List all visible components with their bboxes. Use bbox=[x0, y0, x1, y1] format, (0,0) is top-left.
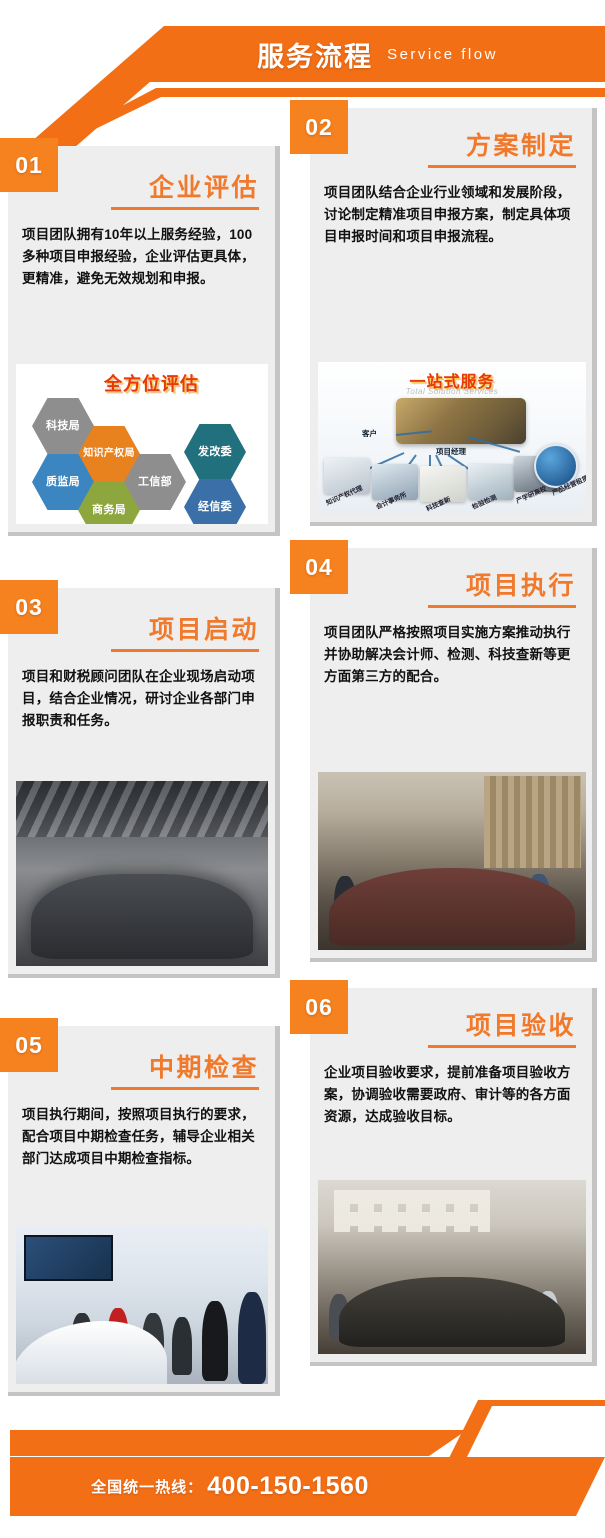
step-number-badge: 02 bbox=[290, 100, 348, 154]
photo-acceptance-meeting bbox=[318, 1180, 586, 1354]
footer-stripe bbox=[10, 1430, 605, 1456]
step-body-text: 项目团队结合企业行业领域和发展阶段，讨论制定精准项目申报方案，制定具体项目申报时… bbox=[310, 168, 592, 258]
header-title-group: 服务流程 Service flow bbox=[150, 26, 605, 82]
step-body-text: 项目团队拥有10年以上服务经验，100多种项目申报经验，企业评估更具体，更精准，… bbox=[8, 210, 275, 300]
hex-node-label: 工信部 bbox=[138, 476, 172, 488]
step-body-text: 项目执行期间，按照项目执行的要求，配合项目中期检查任务，辅导企业相关部门达成项目… bbox=[8, 1090, 275, 1180]
step-number-badge: 05 bbox=[0, 1018, 58, 1072]
photo-people-group bbox=[16, 1226, 268, 1384]
hex-node-label: 科技局 bbox=[46, 420, 80, 432]
photo-site-inspection-tour bbox=[16, 1226, 268, 1384]
step-card-02[interactable]: 02 方案制定 项目团队结合企业行业领域和发展阶段，讨论制定精准项目申报方案，制… bbox=[310, 108, 597, 526]
step-card-05[interactable]: 05 中期检查 项目执行期间，按照项目执行的要求，配合项目中期检查任务，辅导企业… bbox=[8, 1026, 280, 1396]
hotline-label: 全国统一热线： bbox=[91, 1476, 203, 1497]
hexagon-assessment-diagram: 全方位评估 科技局 知识产权局 质监局 商务局 工信部 发改委 经信委 bbox=[16, 364, 268, 524]
step-number-badge: 03 bbox=[0, 580, 58, 634]
step-number-badge: 01 bbox=[0, 138, 58, 192]
photo-people-group bbox=[318, 1180, 586, 1354]
hotline-group: 全国统一热线： 400-150-1560 bbox=[10, 1457, 450, 1516]
hex-node-label: 知识产权局 bbox=[83, 448, 135, 459]
step-number-badge: 04 bbox=[290, 540, 348, 594]
oss-label-customer: 客户 bbox=[362, 428, 377, 439]
oss-subtitle: Total Solution Services bbox=[318, 387, 586, 396]
step-card-06[interactable]: 06 项目验收 企业项目验收要求，提前准备项目验收方案，协调验收需要政府、审计等… bbox=[310, 988, 597, 1366]
step-number-badge: 06 bbox=[290, 980, 348, 1034]
hex-diagram-title: 全方位评估 bbox=[104, 370, 199, 396]
photo-team-working-laptops bbox=[318, 772, 586, 950]
photo-people-group bbox=[318, 772, 586, 950]
infographic-page: 服务流程 Service flow 01 企业评估 项目团队拥有10年以上服务经… bbox=[0, 0, 605, 1538]
step-body-text: 企业项目验收要求，提前准备项目验收方案，协调验收需要政府、审计等的各方面资源，达… bbox=[310, 1048, 592, 1138]
hex-node-label: 质监局 bbox=[46, 476, 80, 488]
step-body-text: 项目团队严格按照项目实施方案推动执行并协助解决会计师、检测、科技查新等更方面第三… bbox=[310, 608, 592, 698]
step-title: 项目验收 bbox=[310, 1006, 592, 1045]
page-footer: 全国统一热线： 400-150-1560 bbox=[0, 1400, 605, 1538]
hex-node-label: 发改委 bbox=[198, 446, 232, 458]
step-title: 项目执行 bbox=[310, 566, 592, 605]
photo-conference-room-kickoff bbox=[16, 781, 268, 966]
hex-node-label: 商务局 bbox=[92, 504, 126, 516]
step-card-04[interactable]: 04 项目执行 项目团队严格按照项目实施方案推动执行并协助解决会计师、检测、科技… bbox=[310, 548, 597, 962]
oss-hub-photo bbox=[396, 398, 526, 444]
step-card-03[interactable]: 03 项目启动 项目和财税顾问团队在企业现场启动项目，结合企业情况，研讨企业各部… bbox=[8, 588, 280, 978]
hex-node-jingxinwei: 经信委 bbox=[184, 479, 246, 524]
hex-node-label: 经信委 bbox=[198, 501, 232, 513]
hotline-number[interactable]: 400-150-1560 bbox=[207, 1472, 369, 1501]
page-subtitle: Service flow bbox=[387, 46, 498, 63]
step-body-text: 项目和财税顾问团队在企业现场启动项目，结合企业情况，研讨企业各部门申报职责和任务… bbox=[8, 652, 275, 742]
hex-node-fagaiwei: 发改委 bbox=[184, 424, 246, 480]
step-card-01[interactable]: 01 企业评估 项目团队拥有10年以上服务经验，100多种项目申报经验，企业评估… bbox=[8, 146, 280, 536]
step-title: 方案制定 bbox=[310, 126, 592, 165]
photo-people-group bbox=[16, 781, 268, 966]
page-title: 服务流程 bbox=[257, 35, 373, 74]
one-stop-service-diagram: 一站式服务 Total Solution Services 客户 项目经理 知识… bbox=[318, 362, 586, 514]
